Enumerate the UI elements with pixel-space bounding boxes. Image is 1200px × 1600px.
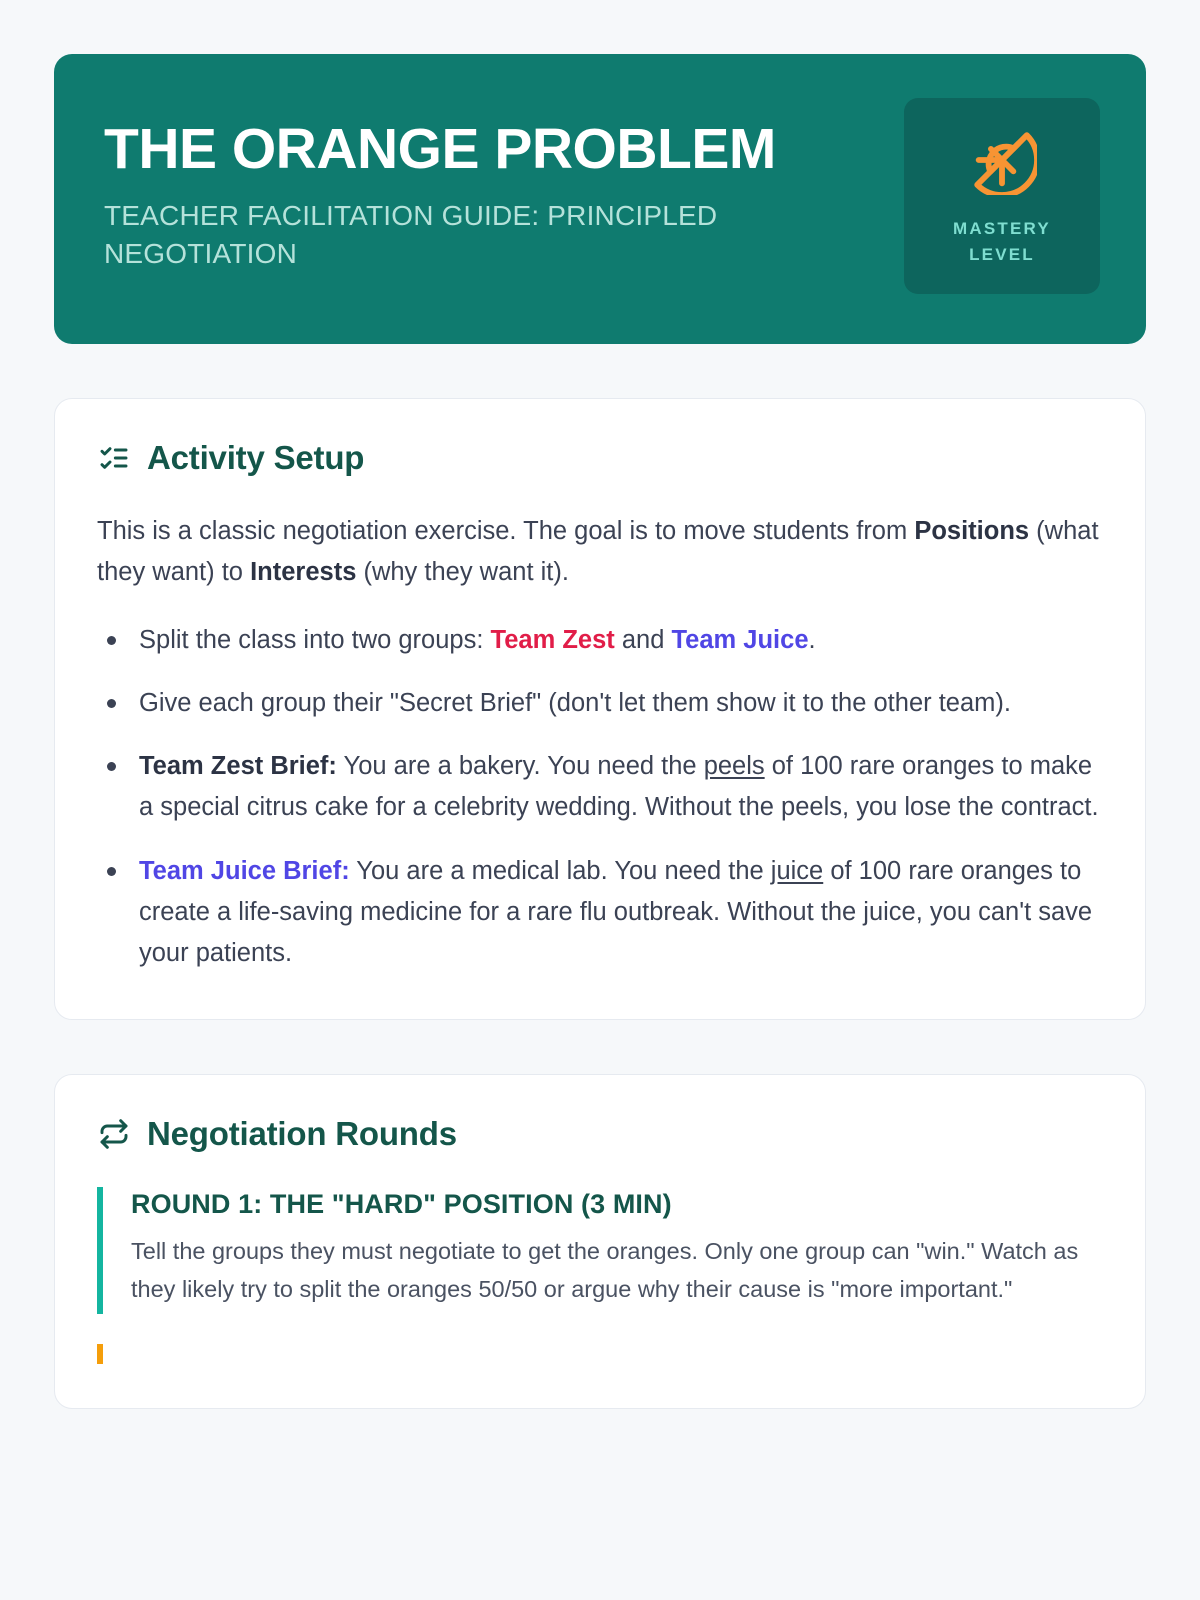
activity-setup-card: Activity Setup This is a classic negotia…	[54, 398, 1146, 1020]
list-item: Split the class into two groups: Team Ze…	[97, 620, 1103, 661]
badge-label-line2: LEVEL	[969, 245, 1035, 264]
lede-part-3: (why they want it).	[356, 558, 569, 586]
negotiation-rounds-heading: Negotiation Rounds	[97, 1115, 1103, 1153]
bullet-1-pre: Split the class into two groups:	[139, 626, 491, 654]
round-block-2	[97, 1344, 1103, 1364]
header-text-block: THE ORANGE PROBLEM TEACHER FACILITATION …	[104, 98, 874, 273]
round-block-1: ROUND 1: THE "HARD" POSITION (3 MIN) Tel…	[97, 1187, 1103, 1314]
lede-part-1: This is a classic negotiation exercise. …	[97, 517, 914, 545]
round-body: Tell the groups they must negotiate to g…	[131, 1232, 1103, 1308]
activity-setup-heading: Activity Setup	[97, 439, 1103, 477]
bullet-2-text: Give each group their "Secret Brief" (do…	[139, 689, 1011, 717]
bullet-3-pre: You are a bakery. You need the	[337, 752, 704, 780]
page-title: THE ORANGE PROBLEM	[104, 120, 874, 179]
team-zest-label: Team Zest	[491, 626, 615, 654]
section-title: Negotiation Rounds	[147, 1115, 457, 1153]
activity-setup-bullets: Split the class into two groups: Team Ze…	[97, 620, 1103, 975]
section-title: Activity Setup	[147, 439, 364, 477]
list-item: Team Zest Brief: You are a bakery. You n…	[97, 746, 1103, 829]
round-title: ROUND 1: THE "HARD" POSITION (3 MIN)	[131, 1189, 1103, 1220]
team-juice-brief-label: Team Juice Brief:	[139, 857, 350, 885]
list-item: Team Juice Brief: You are a medical lab.…	[97, 851, 1103, 975]
lede-bold-positions: Positions	[914, 517, 1029, 545]
list-checks-icon	[97, 441, 131, 475]
badge-label-line1: MASTERY	[953, 219, 1051, 238]
negotiation-rounds-card: Negotiation Rounds ROUND 1: THE "HARD" P…	[54, 1074, 1146, 1409]
header-card: THE ORANGE PROBLEM TEACHER FACILITATION …	[54, 54, 1146, 344]
page-subtitle: TEACHER FACILITATION GUIDE: PRINCIPLED N…	[104, 197, 864, 273]
bullet-4-pre: You are a medical lab. You need the	[350, 857, 771, 885]
repeat-arrows-icon	[97, 1117, 131, 1151]
activity-setup-lede: This is a classic negotiation exercise. …	[97, 511, 1103, 594]
mastery-level-badge: MASTERY LEVEL	[904, 98, 1100, 294]
lede-bold-interests: Interests	[250, 558, 356, 586]
bullet-3-underlined-peels: peels	[704, 752, 765, 780]
guide-page: THE ORANGE PROBLEM TEACHER FACILITATION …	[0, 0, 1200, 1600]
bullet-1-post: .	[809, 626, 816, 654]
list-item: Give each group their "Secret Brief" (do…	[97, 683, 1103, 724]
bullet-1-mid: and	[615, 626, 672, 654]
orange-slice-icon	[966, 124, 1038, 196]
bullet-4-underlined-juice: juice	[771, 857, 823, 885]
team-juice-label: Team Juice	[671, 626, 808, 654]
team-zest-brief-label: Team Zest Brief:	[139, 752, 337, 780]
